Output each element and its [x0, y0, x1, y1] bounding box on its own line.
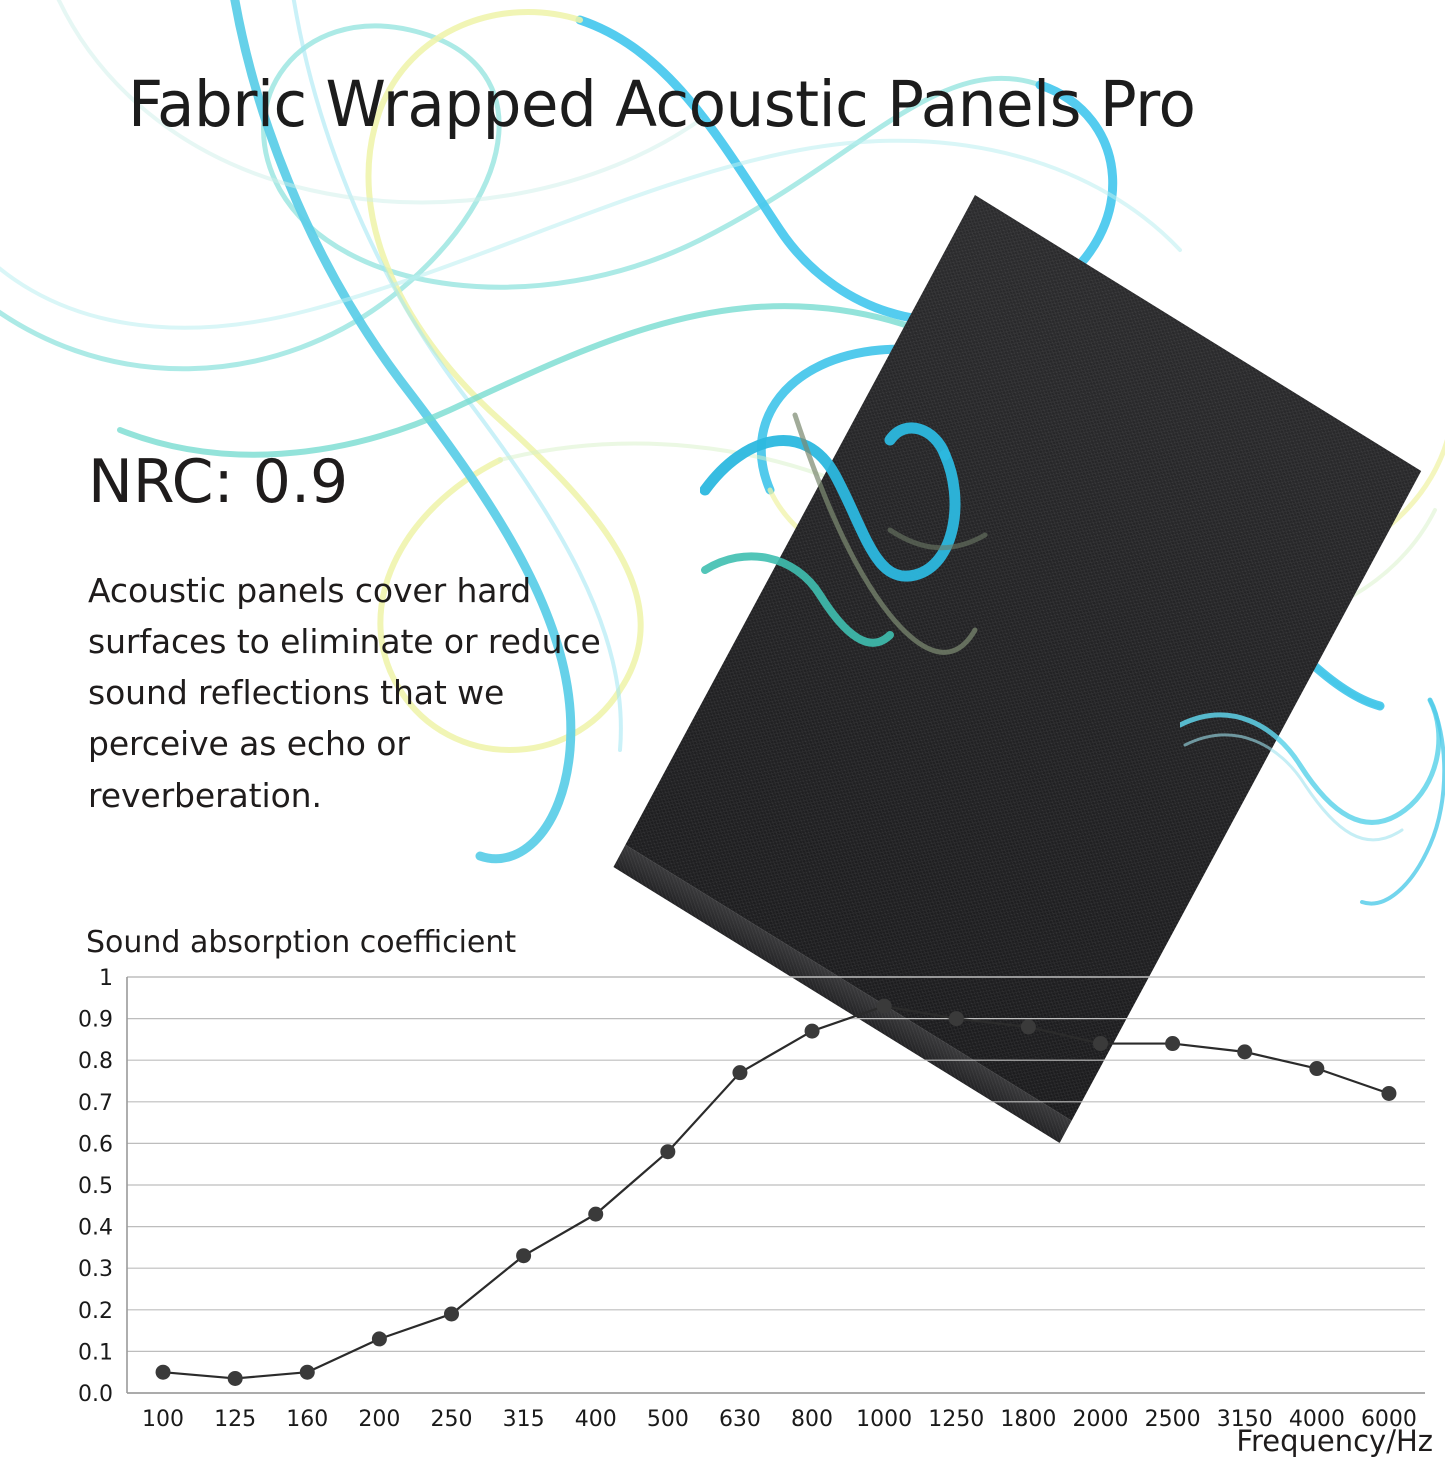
- y-tick-label: 0.4: [78, 1216, 113, 1241]
- data-point-marker: [805, 1024, 820, 1039]
- data-point-marker: [1165, 1036, 1180, 1051]
- y-tick-label: 0.7: [78, 1091, 113, 1116]
- x-tick-label: 1250: [928, 1407, 984, 1432]
- x-tick-label: 125: [214, 1407, 256, 1432]
- x-tick-label: 630: [719, 1407, 761, 1432]
- nrc-value: NRC: 0.9: [88, 447, 348, 517]
- data-point-marker: [444, 1306, 459, 1321]
- data-point-marker: [156, 1365, 171, 1380]
- acoustic-panel-image: [545, 185, 1445, 905]
- y-tick-label: 0.8: [78, 1049, 113, 1074]
- data-point-marker: [588, 1207, 603, 1222]
- x-tick-label: 800: [791, 1407, 833, 1432]
- data-point-marker: [660, 1144, 675, 1159]
- y-tick-label: 0.0: [78, 1382, 113, 1407]
- x-tick-label: 200: [358, 1407, 400, 1432]
- data-point-marker: [877, 999, 892, 1014]
- data-point-marker: [949, 1011, 964, 1026]
- data-point-marker: [372, 1331, 387, 1346]
- data-point-marker: [300, 1365, 315, 1380]
- data-point-marker: [1381, 1086, 1396, 1101]
- absorption-coefficient-chart: 10.90.80.70.60.50.40.30.20.10.0100125160…: [0, 960, 1445, 1467]
- x-tick-label: 400: [575, 1407, 617, 1432]
- product-infographic: Fabric Wrapped Acoustic Panels Pro NRC: …: [0, 0, 1445, 1467]
- y-tick-label: 0.2: [78, 1299, 113, 1324]
- data-point-marker: [1309, 1061, 1324, 1076]
- x-tick-label: 2000: [1073, 1407, 1129, 1432]
- data-point-marker: [732, 1065, 747, 1080]
- x-tick-label: 250: [431, 1407, 473, 1432]
- y-tick-label: 0.3: [78, 1257, 113, 1282]
- data-point-marker: [1237, 1044, 1252, 1059]
- x-tick-label: 2500: [1145, 1407, 1201, 1432]
- x-tick-label: 500: [647, 1407, 689, 1432]
- data-point-marker: [1093, 1036, 1108, 1051]
- page-title: Fabric Wrapped Acoustic Panels Pro: [128, 72, 1195, 138]
- y-tick-label: 0.9: [78, 1008, 113, 1033]
- x-tick-label: 160: [286, 1407, 328, 1432]
- y-tick-label: 0.1: [78, 1340, 113, 1365]
- y-tick-label: 1: [99, 966, 113, 991]
- x-tick-label: 1800: [1000, 1407, 1056, 1432]
- y-tick-label: 0.5: [78, 1174, 113, 1199]
- data-point-marker: [1021, 1019, 1036, 1034]
- chart-x-axis-label: Frequency/Hz: [1236, 1424, 1433, 1458]
- series-line: [163, 1006, 1389, 1378]
- data-point-marker: [228, 1371, 243, 1386]
- data-point-marker: [516, 1248, 531, 1263]
- x-tick-label: 1000: [856, 1407, 912, 1432]
- chart-title: Sound absorption coefficient: [86, 925, 516, 960]
- y-tick-label: 0.6: [78, 1132, 113, 1157]
- x-tick-label: 100: [142, 1407, 184, 1432]
- feature-description: Acoustic panels cover hard surfaces to e…: [88, 565, 608, 821]
- x-tick-label: 315: [503, 1407, 545, 1432]
